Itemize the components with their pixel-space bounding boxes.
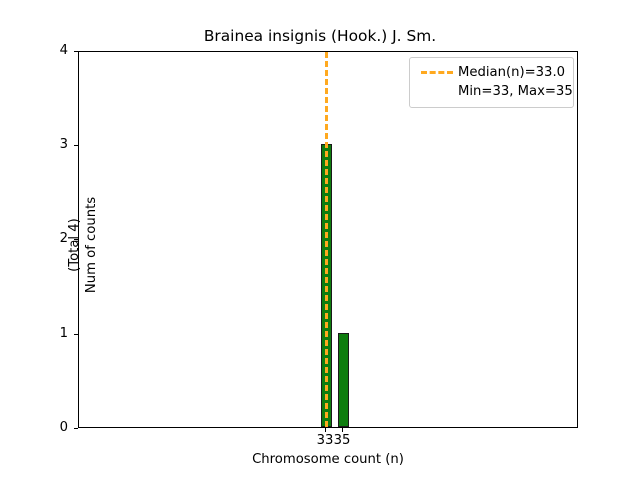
bar-35 xyxy=(338,333,349,427)
legend-label-median: Median(n)=33.0 xyxy=(458,64,567,81)
x-tick-mark-35 xyxy=(342,428,343,432)
legend: Median(n)=33.0 Min=33, Max=35 xyxy=(409,57,574,108)
legend-item-range: Min=33, Max=35 xyxy=(416,82,567,101)
legend-swatch-cell xyxy=(416,71,458,74)
y-axis-label-line-2: (Total 4) xyxy=(66,55,83,435)
y-tick-label-3: 3 xyxy=(28,138,68,151)
y-tick-label-0: 0 xyxy=(28,421,68,434)
y-axis-label-line-1: Num of counts xyxy=(83,55,100,435)
x-tick-label-35: 35 xyxy=(312,433,372,448)
chart-title: Brainea insignis (Hook.) J. Sm. xyxy=(0,27,640,45)
y-tick-label-2: 2 xyxy=(28,232,68,245)
chart-figure: Brainea insignis (Hook.) J. Sm. 4 3 2 1 … xyxy=(0,0,640,480)
y-axis-label: (Total 4) Num of counts xyxy=(66,55,100,435)
y-tick-label-4: 4 xyxy=(28,44,68,57)
y-tick-label-1: 1 xyxy=(28,327,68,340)
x-tick-mark-33 xyxy=(325,428,326,432)
x-axis-label: Chromosome count (n) xyxy=(78,452,578,468)
legend-label-range: Min=33, Max=35 xyxy=(458,83,574,100)
dashed-line-icon xyxy=(421,71,453,74)
median-line xyxy=(325,52,328,427)
legend-item-median: Median(n)=33.0 xyxy=(416,63,567,82)
